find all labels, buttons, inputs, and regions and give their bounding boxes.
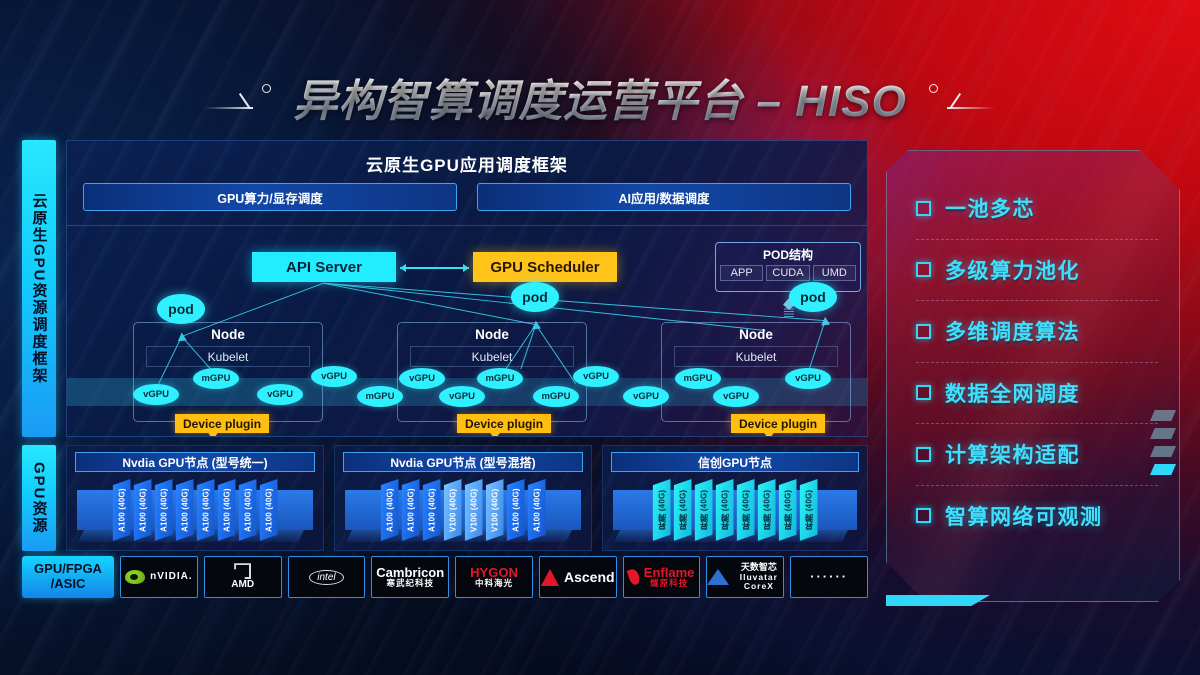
gpu-card-label: A100 (40G) <box>176 479 194 541</box>
device-plugin-2[interactable]: Device plugin <box>457 414 551 433</box>
feature-label-6: 智算网络可观测 <box>945 501 1103 531</box>
gpu-card: 昇腾 (40G) <box>695 479 713 541</box>
pod-node-3[interactable]: pod <box>789 282 837 312</box>
gpu-card: 昇腾 (40G) <box>758 479 776 541</box>
gpu-chip-mgpu-3a[interactable]: mGPU <box>675 368 721 389</box>
title-decoration-left-icon <box>205 77 277 117</box>
gpu-card-label: 昇腾 (40G) <box>779 479 797 541</box>
checkbox-square-icon <box>916 324 931 339</box>
gpu-card: A100 (40G) <box>423 479 441 541</box>
vendor-category-line2: /ASIC <box>51 577 86 592</box>
vendor-label-cambricon: Cambricon 寒武纪科技 <box>376 566 444 589</box>
vendor-label-ascend: Ascend <box>564 570 615 585</box>
device-plugin-1[interactable]: Device plugin <box>175 414 269 433</box>
pod-structure-title: POD结构 <box>716 246 860 263</box>
node-3-kubelet: Kubelet <box>674 346 838 367</box>
gpu-card: A100 (40G) <box>113 479 131 541</box>
vendor-logo-ascend[interactable]: Ascend <box>539 556 617 598</box>
checkbox-square-icon <box>916 447 931 462</box>
gpu-card: A100 (40G) <box>260 479 278 541</box>
vendor-category-chip: GPU/FPGA /ASIC <box>22 556 114 598</box>
gpu-node-uniform: Nvdia GPU节点 (型号统一) A100 (40G) A100 (40G)… <box>66 445 324 551</box>
device-plugin-2-arrow-icon <box>489 431 501 437</box>
feature-label-1: 一池多芯 <box>945 193 1035 223</box>
pod-node-1[interactable]: pod <box>157 294 205 324</box>
sidebar-label-framework: 云原生GPU资源调度框架 <box>22 140 56 437</box>
gpu-chip-vgpu-3a[interactable]: vGPU <box>713 386 759 407</box>
gpu-chip-vgpu-2c[interactable]: vGPU <box>573 366 619 387</box>
gpu-card-label: 昇腾 (40G) <box>695 479 713 541</box>
vendor-label-hygon: HYGON 中科海光 <box>470 566 518 589</box>
framework-title: 云原生GPU应用调度框架 <box>67 151 867 176</box>
gpu-chip-vgpu-2b[interactable]: vGPU <box>439 386 485 407</box>
gpu-card: A100 (40G) <box>197 479 215 541</box>
gpu-chip-vgpu-2a[interactable]: vGPU <box>399 368 445 389</box>
device-plugin-3-arrow-icon <box>763 431 775 437</box>
pill-ai-application[interactable]: AI应用/数据调度 <box>477 183 851 211</box>
node-2-kubelet: Kubelet <box>410 346 574 367</box>
gpu-card-label: A100 (40G) <box>260 479 278 541</box>
gpu-node-3-title: 信创GPU节点 <box>611 452 859 472</box>
gpu-card: 昇腾 (40G) <box>800 479 818 541</box>
gpu-card-label: 昇腾 (40G) <box>653 479 671 541</box>
sidebar-label-gpu-resource: GPU资源 <box>22 445 56 551</box>
ascend-triangle-icon <box>541 569 559 586</box>
gpu-card: V100 (40G) <box>486 479 504 541</box>
gpu-card-label: V100 (40G) <box>465 479 483 541</box>
nvidia-eye-icon <box>125 570 145 584</box>
checkbox-square-icon <box>916 385 931 400</box>
feature-label-5: 计算架构适配 <box>945 439 1080 469</box>
pod-cell-umd: UMD <box>813 265 856 281</box>
gpu-card-label: A100 (40G) <box>381 479 399 541</box>
feature-item-5[interactable]: 计算架构适配 <box>916 424 1158 486</box>
feature-highlight-panel: 一池多芯 多级算力池化 多维调度算法 数据全网调度 计算架构适配 智算网络可观测 <box>886 150 1180 602</box>
vendor-logo-nvidia[interactable]: nVIDIA. <box>120 556 198 598</box>
pod-cell-app: APP <box>720 265 763 281</box>
vendor-label-nvidia: nVIDIA. <box>150 572 193 583</box>
checkbox-square-icon <box>916 201 931 216</box>
page-title-bar: 异构智算调度运营平台 – HISO <box>0 62 1200 132</box>
gpu-card-label: 昇腾 (40G) <box>758 479 776 541</box>
gpu-node-2-cards: A100 (40G) A100 (40G) A100 (40G) V100 (4… <box>335 479 591 541</box>
iluvatar-name: 天数智芯 <box>741 562 777 572</box>
gpu-resource-row: Nvdia GPU节点 (型号统一) A100 (40G) A100 (40G)… <box>66 445 868 551</box>
gpu-card: 昇腾 (40G) <box>737 479 755 541</box>
vendor-label-more: ······ <box>810 570 848 584</box>
gpu-card-label: A100 (40G) <box>402 479 420 541</box>
page-title: 异构智算调度运营平台 – HISO <box>293 65 907 129</box>
gpu-scheduler-box[interactable]: GPU Scheduler <box>473 252 617 282</box>
architecture-panel: 云原生GPU资源调度框架 GPU资源 云原生GPU应用调度框架 GPU算力/显存… <box>22 140 868 600</box>
node-3-label: Node <box>662 327 850 342</box>
framework-pill-row: GPU算力/显存调度 AI应用/数据调度 <box>83 183 851 211</box>
gpu-node-3-cards: 昇腾 (40G) 昇腾 (40G) 昇腾 (40G) 昇腾 (40G) 昇腾 (… <box>603 479 867 541</box>
gpu-node-domestic: 信创GPU节点 昇腾 (40G) 昇腾 (40G) 昇腾 (40G) 昇腾 (4… <box>602 445 868 551</box>
checkbox-square-icon <box>916 508 931 523</box>
pill-gpu-compute[interactable]: GPU算力/显存调度 <box>83 183 457 211</box>
enflame-flame-icon <box>627 568 641 586</box>
cambricon-sub: 寒武纪科技 <box>376 579 444 588</box>
gpu-chip-mgpu-2b[interactable]: mGPU <box>533 386 579 407</box>
gpu-card-label: A100 (40G) <box>197 479 215 541</box>
vendor-label-enflame: Enflame 燧原科技 <box>644 566 695 589</box>
gpu-card: 昇腾 (40G) <box>716 479 734 541</box>
vendor-logo-more[interactable]: ······ <box>790 556 868 598</box>
gpu-card: 昇腾 (40G) <box>653 479 671 541</box>
gpu-card-label: 昇腾 (40G) <box>674 479 692 541</box>
vendor-label-amd: AMD <box>231 580 254 591</box>
gpu-card: A100 (40G) <box>218 479 236 541</box>
title-decoration-right-icon <box>923 77 995 117</box>
gpu-card: A100 (40G) <box>155 479 173 541</box>
enflame-sub: 燧原科技 <box>644 579 695 588</box>
gpu-node-2-title: Nvdia GPU节点 (型号混搭) <box>343 452 583 472</box>
gpu-chip-vgpu-1b[interactable]: vGPU <box>257 384 303 405</box>
gpu-card: A100 (40G) <box>528 479 546 541</box>
feature-label-4: 数据全网调度 <box>945 378 1080 408</box>
gpu-card-label: 昇腾 (40G) <box>716 479 734 541</box>
vendor-label-iluvatar: 天数智芯 Iluvatar CoreX <box>734 563 783 590</box>
gpu-card-label: 昇腾 (40G) <box>737 479 755 541</box>
amd-arrow-icon <box>234 563 251 579</box>
gpu-card-label: A100 (40G) <box>528 479 546 541</box>
feature-item-2[interactable]: 多级算力池化 <box>916 240 1158 302</box>
gpu-chip-mgpu-1a[interactable]: mGPU <box>193 368 239 389</box>
device-plugin-1-arrow-icon <box>207 431 219 437</box>
iluvatar-sub: Iluvatar CoreX <box>734 573 783 591</box>
feature-list: 一池多芯 多级算力池化 多维调度算法 数据全网调度 计算架构适配 智算网络可观测 <box>916 178 1158 546</box>
node-1-label: Node <box>134 327 322 342</box>
gpu-card-label: V100 (40G) <box>444 479 462 541</box>
gpu-chip-vgpu-1a[interactable]: vGPU <box>133 384 179 405</box>
api-scheduler-arrow-icon <box>400 267 469 269</box>
gpu-card-label: A100 (40G) <box>218 479 236 541</box>
gpu-chip-vgpu-3b[interactable]: vGPU <box>785 368 831 389</box>
gpu-card: A100 (40G) <box>507 479 525 541</box>
node-1-kubelet: Kubelet <box>146 346 310 367</box>
gpu-card: A100 (40G) <box>134 479 152 541</box>
gpu-card-label: A100 (40G) <box>113 479 131 541</box>
gpu-card: 昇腾 (40G) <box>674 479 692 541</box>
gpu-card-label: V100 (40G) <box>486 479 504 541</box>
gpu-card-label: A100 (40G) <box>155 479 173 541</box>
vendor-logo-hygon[interactable]: HYGON 中科海光 <box>455 556 533 598</box>
gpu-card: 昇腾 (40G) <box>779 479 797 541</box>
gpu-card-label: A100 (40G) <box>239 479 257 541</box>
feature-label-2: 多级算力池化 <box>945 255 1080 285</box>
vendor-logo-intel[interactable]: intel <box>288 556 366 598</box>
panel-grill-decoration <box>1150 410 1176 530</box>
feature-label-3: 多维调度算法 <box>945 316 1080 346</box>
gpu-node-1-cards: A100 (40G) A100 (40G) A100 (40G) A100 (4… <box>67 479 323 541</box>
gpu-card: V100 (40G) <box>465 479 483 541</box>
vendor-logo-enflame[interactable]: Enflame 燧原科技 <box>623 556 701 598</box>
gpu-card: A100 (40G) <box>239 479 257 541</box>
node-2-label: Node <box>398 327 586 342</box>
gpu-card: A100 (40G) <box>402 479 420 541</box>
feature-item-4[interactable]: 数据全网调度 <box>916 363 1158 425</box>
iluvatar-mountain-icon <box>707 569 729 585</box>
gpu-card-label: A100 (40G) <box>423 479 441 541</box>
device-plugin-3[interactable]: Device plugin <box>731 414 825 433</box>
checkbox-square-icon <box>916 262 931 277</box>
pod-cell-cuda: CUDA <box>766 265 809 281</box>
pod-node-2[interactable]: pod <box>511 282 559 312</box>
feature-item-1[interactable]: 一池多芯 <box>916 178 1158 240</box>
gpu-card: A100 (40G) <box>381 479 399 541</box>
scheduling-canvas: API Server GPU Scheduler POD结构 APP CUDA … <box>67 225 867 436</box>
gpu-node-1-title: Nvdia GPU节点 (型号统一) <box>75 452 315 472</box>
feature-item-6[interactable]: 智算网络可观测 <box>916 486 1158 547</box>
vendor-category-line1: GPU/FPGA <box>34 562 102 577</box>
feature-item-3[interactable]: 多维调度算法 <box>916 301 1158 363</box>
cloud-native-framework-box: 云原生GPU应用调度框架 GPU算力/显存调度 AI应用/数据调度 <box>66 140 868 437</box>
vendor-label-intel: intel <box>309 570 343 585</box>
gpu-card-label: A100 (40G) <box>507 479 525 541</box>
gpu-node-mixed: Nvdia GPU节点 (型号混搭) A100 (40G) A100 (40G)… <box>334 445 592 551</box>
vendor-logo-cambricon[interactable]: Cambricon 寒武纪科技 <box>371 556 449 598</box>
vendor-logo-amd[interactable]: AMD <box>204 556 282 598</box>
vendor-logo-iluvatar[interactable]: 天数智芯 Iluvatar CoreX <box>706 556 784 598</box>
gpu-chip-mgpu-2a[interactable]: mGPU <box>477 368 523 389</box>
pod-structure-box: POD结构 APP CUDA UMD <box>715 242 861 292</box>
api-server-box[interactable]: API Server <box>252 252 396 282</box>
gpu-card: A100 (40G) <box>176 479 194 541</box>
gpu-card: V100 (40G) <box>444 479 462 541</box>
vendor-logo-row: GPU/FPGA /ASIC nVIDIA. AMD intel Cambric… <box>22 556 868 598</box>
hygon-sub: 中科海光 <box>470 579 518 588</box>
gpu-chip-vgpu-1c[interactable]: vGPU <box>311 366 357 387</box>
gpu-card-label: 昇腾 (40G) <box>800 479 818 541</box>
gpu-card-label: A100 (40G) <box>134 479 152 541</box>
